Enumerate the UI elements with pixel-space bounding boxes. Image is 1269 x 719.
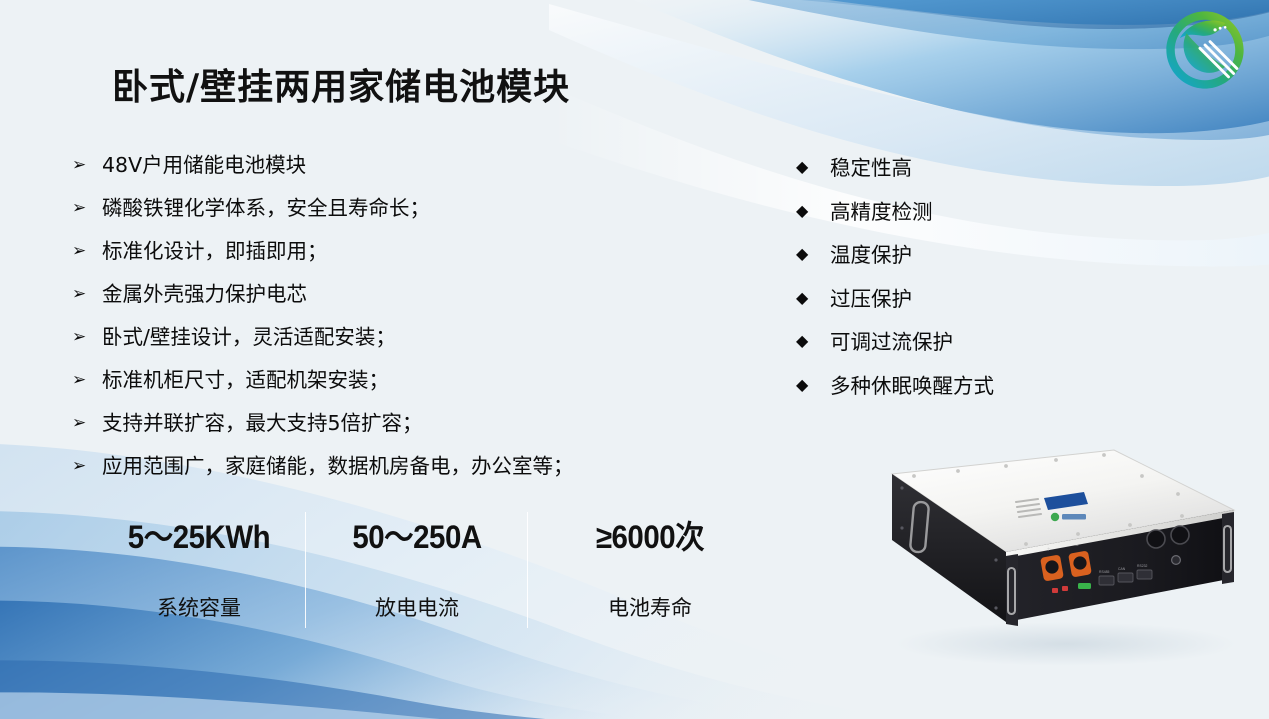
diamond-bullet-icon: ◆ [796, 242, 830, 268]
stat-label: 电池寿命 [528, 592, 772, 622]
stat-value: ≥6000次 [538, 512, 762, 558]
product-image-battery-module: + − RS485 CAN RS232 [856, 436, 1266, 676]
list-item: ➢ 48V户用储能电池模块 [72, 152, 752, 195]
svg-text:+: + [1047, 547, 1051, 553]
list-item-label: 标准机柜尺寸，适配机架安装； [102, 367, 389, 393]
list-item-label: 高精度检测 [830, 199, 933, 225]
list-item: ◆ 多种休眠唤醒方式 [796, 373, 1196, 417]
arrow-bullet-icon: ➢ [72, 195, 102, 221]
list-item-label: 磷酸铁锂化学体系，安全且寿命长； [102, 195, 430, 221]
list-item: ➢ 标准机柜尺寸，适配机架安装； [72, 367, 752, 410]
stat-block-current: 50～250A 放电电流 [306, 512, 528, 630]
company-logo-icon [1163, 8, 1247, 92]
arrow-bullet-icon: ➢ [72, 453, 102, 479]
list-item-label: 稳定性高 [830, 155, 912, 181]
list-item-label: 48V户用储能电池模块 [102, 152, 306, 178]
arrow-bullet-icon: ➢ [72, 238, 102, 264]
stat-block-capacity: 5～25KWh 系统容量 [92, 512, 306, 630]
stat-block-cycle-life: ≥6000次 电池寿命 [528, 512, 772, 630]
list-item-label: 金属外壳强力保护电芯 [102, 281, 307, 307]
page-title: 卧式/壁挂两用家储电池模块 [112, 58, 570, 110]
list-item: ➢ 卧式/壁挂设计，灵活适配安装； [72, 324, 752, 367]
diamond-bullet-icon: ◆ [796, 199, 830, 225]
spec-stats-row: 5～25KWh 系统容量 50～250A 放电电流 ≥6000次 电池寿命 [92, 512, 772, 630]
list-item: ➢ 金属外壳强力保护电芯 [72, 281, 752, 324]
arrow-bullet-icon: ➢ [72, 281, 102, 307]
svg-text:−: − [1075, 543, 1079, 549]
svg-text:RS485: RS485 [1099, 570, 1109, 574]
stat-value: 50～250A [315, 512, 519, 558]
list-item-label: 可调过流保护 [830, 329, 953, 355]
diamond-bullet-icon: ◆ [796, 373, 830, 399]
arrow-bullet-icon: ➢ [72, 152, 102, 178]
diamond-bullet-icon: ◆ [796, 155, 830, 181]
arrow-bullet-icon: ➢ [72, 324, 102, 350]
list-item: ◆ 高精度检测 [796, 199, 1196, 243]
list-item: ➢ 应用范围广，家庭储能，数据机房备电，办公室等； [72, 453, 752, 496]
list-item-label: 标准化设计，即插即用； [102, 238, 328, 264]
feature-list-right: ◆ 稳定性高 ◆ 高精度检测 ◆ 温度保护 ◆ 过压保护 ◆ 可调过流保护 ◆ … [796, 155, 1196, 416]
stat-label: 系统容量 [92, 592, 306, 622]
stat-label: 放电电流 [306, 592, 528, 622]
list-item-label: 支持并联扩容，最大支持5倍扩容； [102, 410, 423, 436]
list-item-label: 多种休眠唤醒方式 [830, 373, 994, 399]
diamond-bullet-icon: ◆ [796, 329, 830, 355]
stat-value: 5～25KWh [101, 512, 298, 558]
arrow-bullet-icon: ➢ [72, 367, 102, 393]
list-item-label: 应用范围广，家庭储能，数据机房备电，办公室等； [102, 453, 574, 479]
svg-text:RS232: RS232 [1137, 564, 1147, 568]
svg-text:CAN: CAN [1118, 567, 1126, 571]
arrow-bullet-icon: ➢ [72, 410, 102, 436]
list-item: ➢ 支持并联扩容，最大支持5倍扩容； [72, 410, 752, 453]
list-item: ➢ 磷酸铁锂化学体系，安全且寿命长； [72, 195, 752, 238]
list-item: ➢ 标准化设计，即插即用； [72, 238, 752, 281]
list-item-label: 卧式/壁挂设计，灵活适配安装； [102, 324, 396, 350]
list-item-label: 过压保护 [830, 286, 912, 312]
list-item-label: 温度保护 [830, 242, 912, 268]
diamond-bullet-icon: ◆ [796, 286, 830, 312]
list-item: ◆ 可调过流保护 [796, 329, 1196, 373]
list-item: ◆ 过压保护 [796, 286, 1196, 330]
feature-list-left: ➢ 48V户用储能电池模块 ➢ 磷酸铁锂化学体系，安全且寿命长； ➢ 标准化设计… [72, 152, 752, 496]
list-item: ◆ 温度保护 [796, 242, 1196, 286]
list-item: ◆ 稳定性高 [796, 155, 1196, 199]
slide-canvas: 卧式/壁挂两用家储电池模块 ➢ 48V户用储能电池模块 ➢ 磷酸铁锂化学体系，安… [0, 0, 1269, 719]
